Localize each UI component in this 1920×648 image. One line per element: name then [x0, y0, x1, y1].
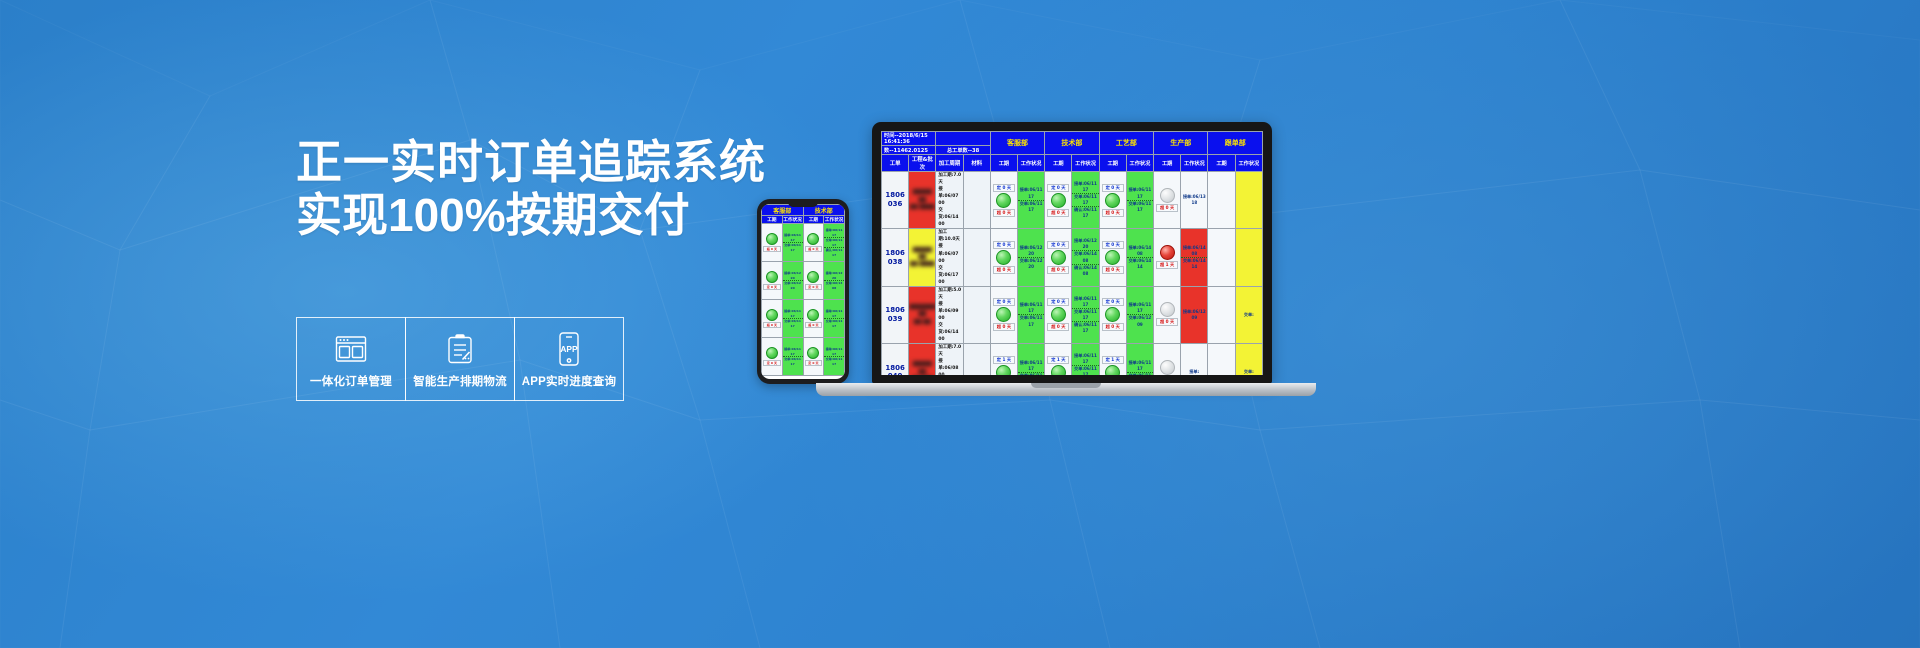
pill-over: 超 0 天: [1047, 323, 1069, 331]
cell-duration: [1208, 172, 1235, 229]
status-date: 交单:06/11 17: [1127, 200, 1153, 213]
status-date: 接单:06/13 18: [1181, 194, 1207, 206]
cell-duration: 定 1 天超 0 天: [1099, 344, 1126, 375]
phone-cell-status: 接单:06/11 17交单:06/11 17确认:06/11 17: [824, 224, 845, 262]
table-row[interactable]: 1806039▇▇▇▇▇▇▇▇▇▇▇ ▇▇加工期:5.0天接单:06/09 00…: [882, 286, 1263, 343]
status-date: 接单:06/14 08: [1181, 245, 1207, 257]
feature-card-order-management[interactable]: 一体化订单管理: [296, 317, 406, 401]
cell-project-batch: ▇▇▇▇▇▇▇▇▇ ▇▇▇▇: [909, 229, 936, 286]
status-indicator-green: [996, 307, 1011, 322]
cell-duration: [1208, 229, 1235, 286]
feature-card-label: 一体化订单管理: [310, 373, 392, 389]
col-header-material: 材料: [963, 155, 990, 172]
pill-fix: 定 0 天: [1047, 298, 1069, 306]
feature-card-app-progress[interactable]: APP APP实时进度查询: [514, 317, 624, 401]
pill-over: 超 0 天: [1047, 266, 1069, 274]
status-indicator-green: [766, 309, 778, 321]
status-date: 交单:06/11 17: [1072, 365, 1098, 375]
col-header-duration: 工期: [1045, 155, 1072, 172]
cell-work-status: 交单:: [1235, 344, 1262, 375]
pill-over: 超 0 天: [993, 209, 1015, 217]
col-header-workorder: 工单: [882, 155, 909, 172]
cell-duration: 定 0 天超 0 天: [990, 286, 1017, 343]
cell-work-status: 接单:06/12 20交单:06/14 08确认:06/14 08: [1072, 229, 1099, 286]
status-indicator-green: [1051, 365, 1066, 375]
cycle-line: 接单:06/07 00: [938, 243, 962, 264]
pill-fix: 定 1 天: [1047, 356, 1069, 364]
phone-table-row[interactable]: 超 0 天接单:06/11 17交单:06/11 17超 0 天接单:06/11…: [762, 224, 845, 262]
dept-header-gongyi: 工艺部: [1099, 132, 1153, 155]
pill-over: 超 0 天: [993, 323, 1015, 331]
cell-project-batch: ▇▇▇▇▇▇▇▇▇ ▇▇▇: [909, 344, 936, 375]
col-header-status: 工作状况: [1072, 155, 1099, 172]
phone-status-date: 接单:06/11 17: [783, 347, 803, 356]
cycle-line: 接单:06/07 00: [938, 186, 962, 207]
status-indicator-green: [807, 271, 819, 283]
phone-cell-status: 接单:06/12 20交单:06/14 08: [824, 262, 845, 300]
cell-duration: 定 1 天超 0 天: [990, 344, 1017, 375]
phone-cell-duration: 定 0 天: [762, 338, 783, 376]
cell-material: [963, 229, 990, 286]
cell-work-status: 接单:06/11 17交单:06/11 17: [1018, 344, 1045, 375]
dashboard-count-label: 数--11462.0125: [882, 146, 936, 155]
pill-over: 超 0 天: [1156, 318, 1178, 326]
phone-table-row[interactable]: 定 0 天接单:06/11 17交单:06/11 17定 0 天接单:06/11…: [762, 338, 845, 376]
col-header-duration: 工期: [1099, 155, 1126, 172]
status-indicator-green: [1105, 307, 1120, 322]
pill-fix: 定 0 天: [993, 298, 1015, 306]
status-indicator-green: [1105, 250, 1120, 265]
phone-status-date: 交单:06/11 17: [783, 242, 803, 252]
status-indicator-green: [1051, 307, 1066, 322]
status-indicator-green: [996, 250, 1011, 265]
cell-work-status: 接单:06/11 17交单:06/11 17: [1126, 344, 1153, 375]
cell-work-order: 1806039: [882, 286, 909, 343]
cell-duration: 定 0 天超 0 天: [1045, 229, 1072, 286]
status-date: 交单:06/14 14: [1127, 257, 1153, 270]
cell-work-status: 接单:06/12 20交单:06/12 20: [1018, 229, 1045, 286]
cycle-line: 加工期:10.0天: [938, 229, 962, 243]
dashboard-time-label: 时间--2018/6/15 16:41:36: [882, 132, 936, 146]
cell-duration: 定 0 天超 0 天: [1099, 229, 1126, 286]
phone-pill: 超 0 天: [805, 246, 823, 252]
pill-fix: 定 0 天: [1047, 184, 1069, 192]
phone-subheader: 工期: [803, 216, 824, 224]
status-indicator-green: [766, 347, 778, 359]
cell-work-status: 接单:06/11 17交单:06/11 17: [1018, 286, 1045, 343]
cell-work-status: 接单:06/11 17交单:06/11 17: [1126, 172, 1153, 229]
phone-pill: 定 0 天: [805, 360, 823, 366]
phone-cell-duration: 超 0 天: [762, 224, 783, 262]
phone-cell-status: 接单:06/11 17交单:06/11 17: [782, 224, 803, 262]
pill-fix: 定 1 天: [993, 356, 1015, 364]
feature-card-production-schedule[interactable]: 智能生产排期物流: [405, 317, 515, 401]
cell-duration: 超 0 天: [1154, 286, 1181, 343]
cell-work-order: 1806040: [882, 344, 909, 375]
phone-status-date: 交单:06/11 17: [824, 237, 844, 247]
cell-work-order: 1806038: [882, 229, 909, 286]
col-header-duration: 工期: [1154, 155, 1181, 172]
hero-headline-line2: 实现100%按期交付: [296, 189, 816, 242]
status-indicator-red: [1160, 245, 1175, 260]
cell-work-status: 接单:06/14 08交单:06/14 14: [1126, 229, 1153, 286]
status-indicator-grey: [1160, 188, 1175, 203]
app-icon-text: APP: [560, 344, 578, 354]
phone-cell-duration: 定 0 天: [803, 338, 824, 376]
status-date: 接单:06/11 17: [1072, 181, 1098, 193]
cell-duration: 超 1 天: [1154, 344, 1181, 375]
phone-cell-status: 接单:06/11 17交单:06/11 17: [782, 300, 803, 338]
pill-over: 超 0 天: [1102, 209, 1124, 217]
status-date: 接单:06/11 17: [1018, 302, 1044, 314]
status-indicator-green: [996, 365, 1011, 375]
phone-cell-duration: 超 0 天: [762, 300, 783, 338]
col-header-duration: 工期: [990, 155, 1017, 172]
work-order-top: 1806: [882, 249, 908, 258]
cell-duration: 定 0 天超 0 天: [990, 172, 1017, 229]
pill-over: 超 0 天: [1156, 204, 1178, 212]
project-name-blurred: ▇▇▇▇▇▇▇▇▇ ▇▇▇▇: [909, 247, 935, 269]
table-row[interactable]: 1806036▇▇▇▇▇▇▇▇▇ ▇▇▇▇加工期:7.0天接单:06/07 00…: [882, 172, 1263, 229]
cell-project-batch: ▇▇▇▇▇▇▇▇▇▇▇ ▇▇: [909, 286, 936, 343]
status-date: 接单:06/12 09: [1181, 309, 1207, 321]
cell-processing-cycle: 加工期:10.0天接单:06/07 00交货:06/17 00: [936, 229, 963, 286]
phone-pill: 定 0 天: [763, 360, 781, 366]
cell-work-status: 接单:06/11 17交单:06/11 17确认:06/11 17: [1072, 344, 1099, 375]
cell-processing-cycle: 加工期:7.0天接单:06/08 00交货:06/15 00: [936, 344, 963, 375]
pill-fix: 定 0 天: [1102, 298, 1124, 306]
phone-table-row[interactable]: 定 0 天接单:06/12 20交单:06/12 20定 0 天接单:06/12…: [762, 262, 845, 300]
status-date: 交单:06/11 17: [1018, 372, 1044, 375]
status-date: 交单:06/11 17: [1018, 314, 1044, 327]
col-header-cycle: 加工周期: [936, 155, 963, 172]
phone-cell-status: 接单:06/11 17交单:06/11 17: [824, 338, 845, 376]
cell-work-status: [1235, 172, 1262, 229]
feature-card-label: APP实时进度查询: [522, 373, 616, 389]
phone-pill: 超 0 天: [763, 246, 781, 252]
pill-over: 超 1 天: [1156, 261, 1178, 269]
cycle-line: 接单:06/08 00: [938, 358, 962, 375]
phone-status-date: 接单:06/11 17: [824, 228, 844, 237]
cycle-line: 交货:06/14 00: [938, 207, 962, 228]
phone-status-date: 接单:06/11 17: [824, 347, 844, 356]
status-date: 确认:06/14 08: [1072, 264, 1098, 277]
status-indicator-grey: [1160, 302, 1175, 317]
pill-over: 超 0 天: [1047, 209, 1069, 217]
phone-pill: 定 0 天: [805, 284, 823, 290]
cell-processing-cycle: 加工期:7.0天接单:06/07 00交货:06/14 00: [936, 172, 963, 229]
phone-status-date: 交单:06/11 17: [783, 356, 803, 366]
status-indicator-green: [1105, 365, 1120, 375]
status-date: 接单:06/11 17: [1018, 187, 1044, 199]
status-indicator-green: [1105, 193, 1120, 208]
status-indicator-green: [1051, 250, 1066, 265]
phone-cell-duration: 超 0 天: [803, 224, 824, 262]
phone-status-date: 交单:06/14 08: [824, 280, 844, 290]
cell-material: [963, 344, 990, 375]
status-date: 接单:06/11 17: [1018, 360, 1044, 372]
hero-copy: 正一实时订单追踪系统 实现100%按期交付: [296, 136, 816, 243]
status-date: 接单:06/12 20: [1072, 238, 1098, 250]
work-order-bottom: 040: [882, 372, 908, 375]
phone-status-date: 接单:06/12 20: [783, 271, 803, 280]
phone-screen: 客服部 技术部 工期 工作状况 工期 工作状况 超 0 天接单:06/11 17…: [761, 204, 845, 379]
status-date: 交单:: [1236, 312, 1262, 318]
dept-header-jishu: 技术部: [1045, 132, 1099, 155]
pill-fix: 定 0 天: [1047, 241, 1069, 249]
phone-status-date: 接单:06/11 17: [824, 309, 844, 318]
mobile-app-icon: APP: [556, 329, 582, 369]
phone-pill: 超 0 天: [763, 322, 781, 328]
cell-duration: 定 0 天超 0 天: [1099, 172, 1126, 229]
project-name-blurred: ▇▇▇▇▇▇▇▇▇ ▇▇▇▇: [909, 189, 935, 211]
cell-duration: 超 0 天: [1154, 172, 1181, 229]
laptop-base: [816, 383, 1316, 396]
cell-duration: [1208, 344, 1235, 375]
cell-duration: 超 1 天: [1154, 229, 1181, 286]
status-date: 确认:06/11 17: [1072, 321, 1098, 334]
status-date: 接单:: [1181, 369, 1207, 375]
status-indicator-green: [1051, 193, 1066, 208]
table-row[interactable]: 1806040▇▇▇▇▇▇▇▇▇ ▇▇▇加工期:7.0天接单:06/08 00交…: [882, 344, 1263, 375]
cycle-line: 加工期:7.0天: [938, 344, 962, 358]
phone-subheader: 工作状况: [824, 216, 845, 224]
cell-duration: 定 0 天超 0 天: [1045, 172, 1072, 229]
status-date: 接单:06/11 17: [1127, 187, 1153, 199]
project-name-blurred: ▇▇▇▇▇▇▇▇▇ ▇▇▇: [909, 361, 935, 375]
phone-cell-duration: 定 0 天: [803, 262, 824, 300]
phone-mockup: 客服部 技术部 工期 工作状况 工期 工作状况 超 0 天接单:06/11 17…: [757, 199, 849, 384]
status-date: 接单:06/11 17: [1127, 302, 1153, 314]
phone-cell-status: 接单:06/11 17交单:06/11 17: [824, 300, 845, 338]
status-indicator-green: [807, 309, 819, 321]
cell-work-status: 接单:06/13 18: [1181, 172, 1208, 229]
laptop-lid: 时间--2018/6/15 16:41:36 客服部 技术部 工艺部 生产部 跟…: [872, 122, 1272, 384]
status-date: 接单:06/11 17: [1072, 353, 1098, 365]
status-date: 交单:06/11 17: [1072, 308, 1098, 321]
pill-fix: 定 0 天: [993, 241, 1015, 249]
cell-work-status: 接单:06/14 08交单:06/14 14: [1181, 229, 1208, 286]
cell-work-status: 接单:06/11 17交单:06/11 17: [1018, 172, 1045, 229]
status-date: 交单:06/12 09: [1127, 314, 1153, 327]
dashboard-total-label: 总工单数--38: [936, 146, 990, 155]
status-date: 交单:: [1236, 369, 1262, 375]
status-date: 交单:06/11 17: [1127, 372, 1153, 375]
status-date: 交单:06/11 17: [1018, 200, 1044, 213]
cell-material: [963, 286, 990, 343]
work-order-bottom: 039: [882, 315, 908, 324]
status-date: 交单:06/11 17: [1072, 193, 1098, 206]
phone-table-row[interactable]: 超 0 天接单:06/11 17交单:06/11 17超 0 天接单:06/11…: [762, 300, 845, 338]
cell-duration: 定 0 天超 0 天: [1099, 286, 1126, 343]
phone-order-table: 客服部 技术部 工期 工作状况 工期 工作状况 超 0 天接单:06/11 17…: [761, 204, 845, 376]
dept-header-gendan: 跟单部: [1208, 132, 1263, 155]
work-order-top: 1806: [882, 364, 908, 373]
cell-work-status: 交单:: [1235, 286, 1262, 343]
dept-header-kefu: 客服部: [990, 132, 1044, 155]
cell-duration: 定 0 天超 0 天: [990, 229, 1017, 286]
work-order-bottom: 036: [882, 200, 908, 209]
cell-work-status: 接单:: [1181, 344, 1208, 375]
phone-status-date: 接单:06/11 17: [783, 309, 803, 318]
feature-card-label: 智能生产排期物流: [413, 373, 507, 389]
pill-over: 超 0 天: [1102, 323, 1124, 331]
phone-status-date: 接单:06/12 20: [824, 271, 844, 280]
phone-cell-status: 接单:06/11 17交单:06/11 17: [782, 338, 803, 376]
cycle-line: 加工期:7.0天: [938, 172, 962, 186]
phone-status-date: 确认:06/11 17: [824, 247, 844, 257]
hero-headline-line1: 正一实时订单追踪系统: [296, 136, 816, 189]
laptop-screen: 时间--2018/6/15 16:41:36 客服部 技术部 工艺部 生产部 跟…: [881, 131, 1263, 375]
status-date: 交单:06/14 14: [1181, 257, 1207, 270]
pill-fix: 定 1 天: [1102, 356, 1124, 364]
phone-status-date: 交单:06/12 20: [783, 280, 803, 290]
status-date: 交单:06/14 08: [1072, 250, 1098, 263]
cell-work-status: 接单:06/12 09: [1181, 286, 1208, 343]
dept-header-shengchan: 生产部: [1154, 132, 1208, 155]
cell-work-status: [1235, 229, 1262, 286]
cell-work-status: 接单:06/11 17交单:06/11 17确认:06/11 17: [1072, 286, 1099, 343]
status-date: 接单:06/11 17: [1072, 296, 1098, 308]
phone-subheader: 工期: [762, 216, 783, 224]
col-header-status: 工作状况: [1126, 155, 1153, 172]
feature-card-list: 一体化订单管理 智能生产排期物流 APP: [296, 317, 623, 401]
cell-work-status: 接单:06/11 17交单:06/12 09: [1126, 286, 1153, 343]
status-date: 接单:06/12 20: [1018, 245, 1044, 257]
cycle-line: 交货:06/14 00: [938, 322, 962, 343]
project-name-blurred: ▇▇▇▇▇▇▇▇▇▇▇ ▇▇: [909, 304, 935, 326]
work-order-top: 1806: [882, 306, 908, 315]
cell-project-batch: ▇▇▇▇▇▇▇▇▇ ▇▇▇▇: [909, 172, 936, 229]
clipboard-schedule-icon: [445, 329, 475, 369]
pill-fix: 定 0 天: [1102, 184, 1124, 192]
cycle-line: 接单:06/09 00: [938, 301, 962, 322]
phone-cell-status: 接单:06/12 20交单:06/12 20: [782, 262, 803, 300]
status-indicator-green: [766, 271, 778, 283]
phone-status-date: 接单:06/11 17: [783, 233, 803, 242]
status-date: 接单:06/14 08: [1127, 245, 1153, 257]
col-header-status: 工作状况: [1181, 155, 1208, 172]
phone-status-date: 交单:06/11 17: [824, 318, 844, 328]
cell-material: [963, 172, 990, 229]
cell-duration: 定 1 天超 0 天: [1045, 344, 1072, 375]
status-indicator-green: [766, 233, 778, 245]
cell-duration: [1208, 286, 1235, 343]
cycle-line: 加工期:5.0天: [938, 287, 962, 301]
status-indicator-green: [807, 347, 819, 359]
work-order-bottom: 038: [882, 258, 908, 267]
status-indicator-grey: [1160, 360, 1175, 375]
status-indicator-green: [996, 193, 1011, 208]
laptop-mockup: 时间--2018/6/15 16:41:36 客服部 技术部 工艺部 生产部 跟…: [860, 122, 1330, 422]
phone-pill: 超 0 天: [805, 322, 823, 328]
table-row[interactable]: 1806038▇▇▇▇▇▇▇▇▇ ▇▇▇▇加工期:10.0天接单:06/07 0…: [882, 229, 1263, 286]
cell-work-order: 1806036: [882, 172, 909, 229]
phone-cell-duration: 超 0 天: [803, 300, 824, 338]
pill-over: 超 0 天: [1102, 266, 1124, 274]
status-indicator-green: [807, 233, 819, 245]
phone-subheader: 工作状况: [782, 216, 803, 224]
cycle-line: 交货:06/17 00: [938, 265, 962, 286]
order-tracking-table: 时间--2018/6/15 16:41:36 客服部 技术部 工艺部 生产部 跟…: [881, 131, 1263, 375]
window-layout-icon: [334, 329, 368, 369]
phone-status-date: 交单:06/11 17: [783, 318, 803, 328]
col-header-duration: 工期: [1208, 155, 1235, 172]
status-date: 交单:06/12 20: [1018, 257, 1044, 270]
phone-status-date: 交单:06/11 17: [824, 356, 844, 366]
col-header-status: 工作状况: [1235, 155, 1262, 172]
phone-pill: 定 0 天: [763, 284, 781, 290]
cell-work-status: 接单:06/11 17交单:06/11 17确认:06/11 17: [1072, 172, 1099, 229]
pill-fix: 定 0 天: [993, 184, 1015, 192]
phone-notch: [788, 202, 818, 207]
col-header-project: 工程&批次: [909, 155, 936, 172]
status-date: 接单:06/11 17: [1127, 360, 1153, 372]
phone-cell-duration: 定 0 天: [762, 262, 783, 300]
work-order-top: 1806: [882, 191, 908, 200]
pill-over: 超 0 天: [993, 266, 1015, 274]
cell-processing-cycle: 加工期:5.0天接单:06/09 00交货:06/14 00: [936, 286, 963, 343]
status-date: 确认:06/11 17: [1072, 206, 1098, 219]
cell-duration: 定 0 天超 0 天: [1045, 286, 1072, 343]
pill-fix: 定 0 天: [1102, 241, 1124, 249]
col-header-status: 工作状况: [1018, 155, 1045, 172]
